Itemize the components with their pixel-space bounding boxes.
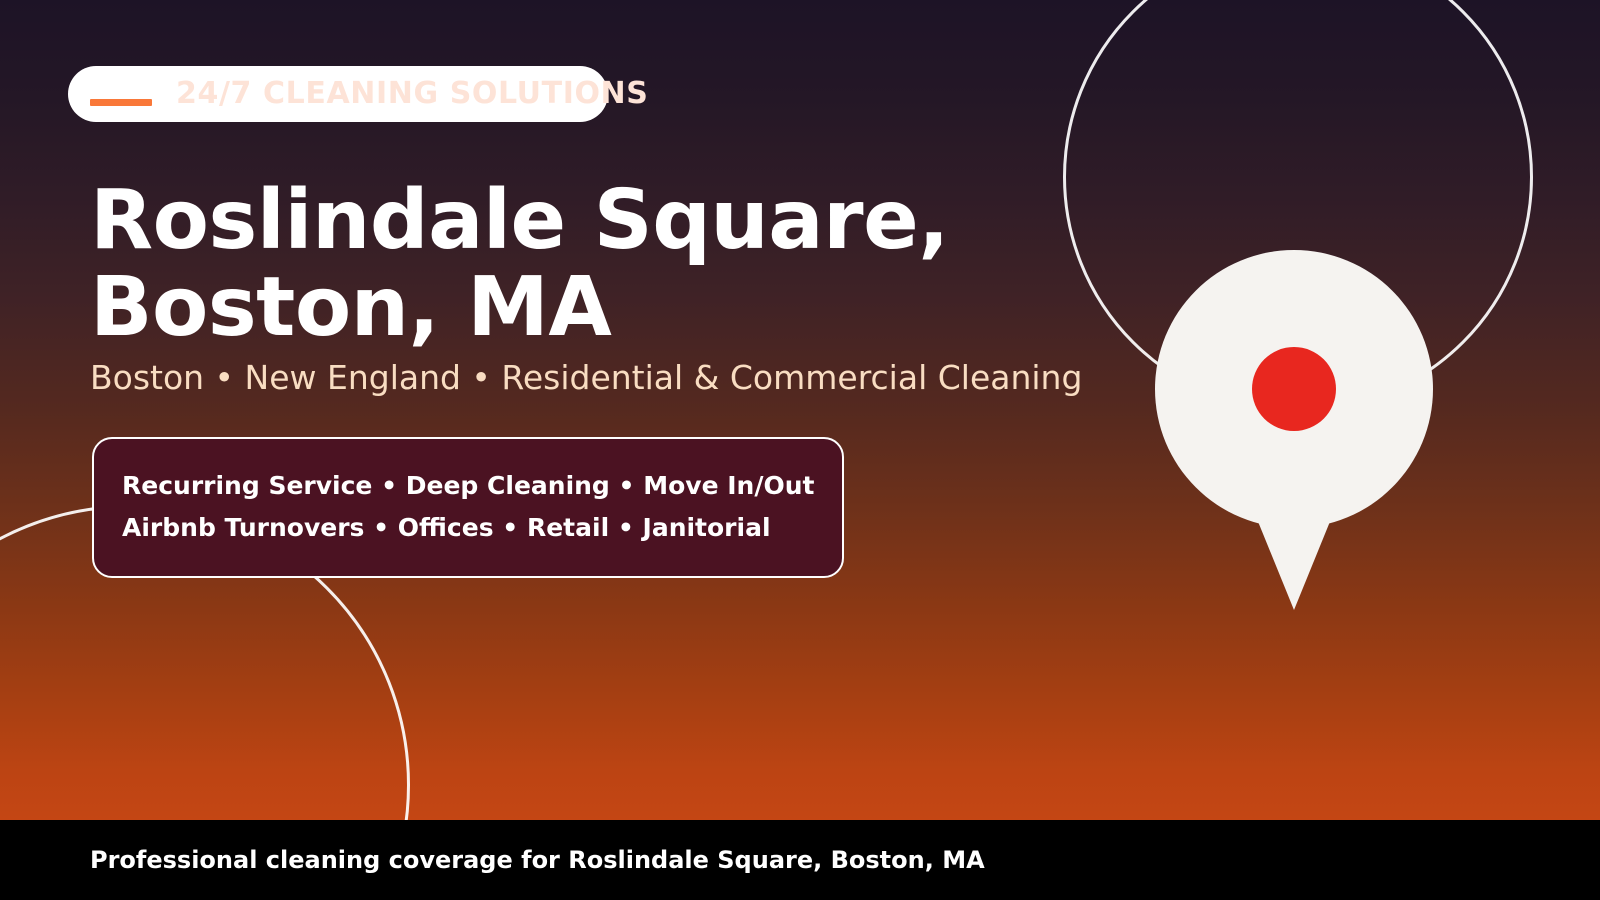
map-pin-dot (1252, 347, 1336, 431)
services-card: Recurring Service • Deep Cleaning • Move… (92, 437, 844, 578)
services-line-1: Recurring Service • Deep Cleaning • Move… (122, 465, 814, 507)
page-subtitle: Boston • New England • Residential & Com… (90, 358, 1082, 398)
page-title: Roslindale Square, Boston, MA (90, 178, 1050, 352)
hero-banner: 24/7 CLEANING SOLUTIONS Roslindale Squar… (0, 0, 1600, 900)
eyebrow-badge: 24/7 CLEANING SOLUTIONS (68, 66, 608, 122)
footer-caption: Professional cleaning coverage for Rosli… (0, 846, 985, 874)
horizontal-rule-icon (90, 99, 152, 106)
eyebrow-badge-label: 24/7 CLEANING SOLUTIONS (176, 79, 648, 109)
footer-bar: Professional cleaning coverage for Rosli… (0, 820, 1600, 900)
services-line-2: Airbnb Turnovers • Offices • Retail • Ja… (122, 507, 814, 549)
map-pin-icon (1155, 250, 1433, 610)
